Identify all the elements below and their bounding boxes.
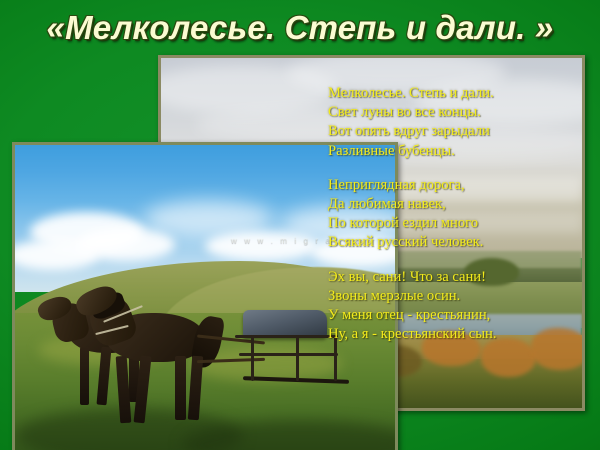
sled-rail <box>239 353 338 356</box>
autumn-bush-shape <box>422 331 481 366</box>
slide-title: «Мелколесье. Степь и дали. » <box>47 9 554 47</box>
horse-sled-field-photo <box>12 142 398 450</box>
autumn-bush-shape <box>481 338 536 377</box>
autumn-bush-shape <box>531 328 585 370</box>
tree-shape <box>464 258 519 286</box>
horse-leg <box>80 347 90 405</box>
horse-sled-scene <box>15 145 395 450</box>
sled-bed <box>243 310 327 338</box>
slide-title-bar: «Мелколесье. Степь и дали. » <box>0 2 600 54</box>
horse-leg <box>175 356 186 420</box>
presentation-slide: w w w . m i g r a . r u Мелколесье. Степ… <box>0 0 600 450</box>
sled-upright <box>334 335 337 381</box>
sled-upright <box>296 335 299 381</box>
sled-upright <box>251 335 254 381</box>
